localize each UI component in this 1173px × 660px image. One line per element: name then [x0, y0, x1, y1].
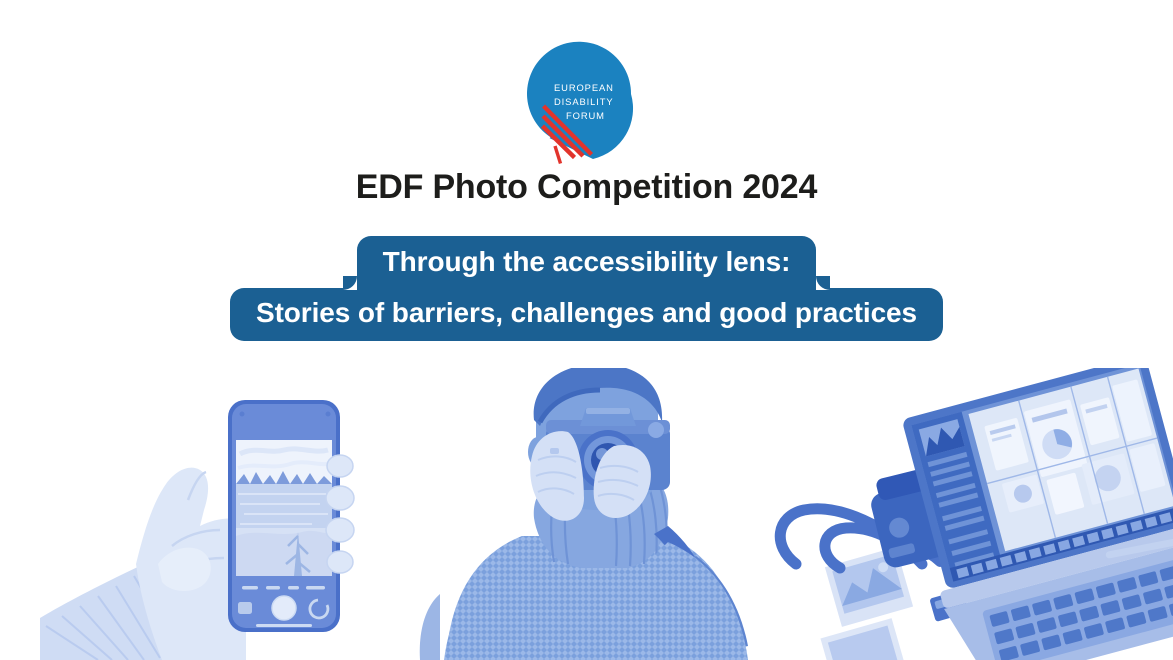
logo-text-line-1: EUROPEAN	[554, 82, 614, 93]
logo-text-line-2: DISABILITY	[554, 96, 614, 107]
camera-gear-and-laptop-photo	[770, 368, 1173, 660]
hand-holding-smartphone-photo	[40, 368, 440, 660]
banner-notch-right	[816, 275, 830, 290]
photo-montage	[0, 368, 1173, 660]
camera-gear-photo-graphic	[770, 368, 1173, 660]
edf-photo-competition-poster: EUROPEAN DISABILITY FORUM EDF Photo Comp…	[0, 0, 1173, 660]
subtitle-line-2: Stories of barriers, challenges and good…	[230, 288, 943, 341]
smartphone-photo-graphic	[40, 368, 440, 660]
logo-text-line-3: FORUM	[566, 110, 605, 121]
subtitle-line-2-text: Stories of barriers, challenges and good…	[256, 297, 917, 328]
photographer-photo-graphic	[418, 368, 778, 660]
logo-graphic: EUROPEAN DISABILITY FORUM	[521, 38, 653, 164]
european-disability-forum-logo: EUROPEAN DISABILITY FORUM	[521, 38, 653, 164]
photographer-with-camera-photo	[418, 368, 778, 660]
subtitle-line-1: Through the accessibility lens:	[357, 236, 817, 289]
banner-notch-left	[343, 275, 357, 290]
subtitle-line-1-text: Through the accessibility lens:	[383, 246, 791, 277]
subtitle-banner: Through the accessibility lens: Stories …	[0, 236, 1173, 341]
logo-block: EUROPEAN DISABILITY FORUM	[0, 38, 1173, 164]
page-title: EDF Photo Competition 2024	[0, 166, 1173, 208]
